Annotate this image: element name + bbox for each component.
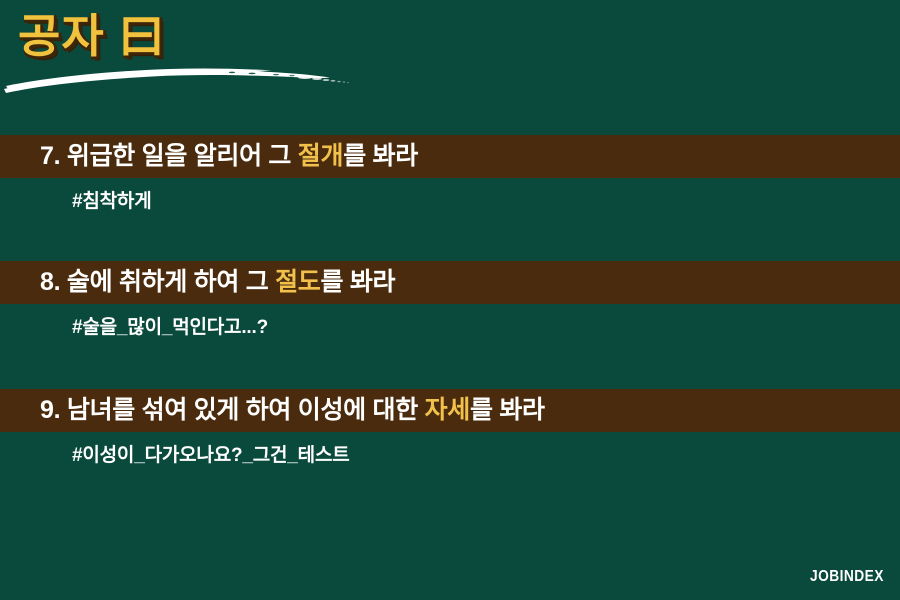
item-band: 9. 남녀를 섞여 있게 하여 이성에 대한 자세를 봐라 — [0, 389, 900, 432]
item-number: 9. — [40, 396, 60, 424]
slide-canvas: 공자 曰 7. 위급한 일을 알리어 그 절개를 봐라 #침착하게 — [0, 0, 900, 600]
item-number: 7. — [40, 142, 60, 170]
list-item: 7. 위급한 일을 알리어 그 절개를 봐라 #침착하게 — [0, 135, 900, 225]
item-text-after: 를 봐라 — [321, 268, 396, 296]
page-title: 공자 曰 — [18, 10, 165, 63]
item-heading: 8. 술에 취하게 하여 그 절도를 봐라 — [0, 270, 395, 295]
item-hashtag: #이성이_다가오나요?_그건_테스트 — [72, 446, 350, 465]
item-number: 8. — [40, 268, 60, 296]
item-hashtag: #술을_많이_먹인다고...? — [72, 318, 268, 337]
item-text-before: 술에 취하게 하여 그 — [60, 268, 275, 296]
item-highlight: 절개 — [298, 142, 343, 170]
item-text-after: 를 봐라 — [343, 142, 418, 170]
item-highlight: 절도 — [275, 268, 320, 296]
item-band: 7. 위급한 일을 알리어 그 절개를 봐라 — [0, 135, 900, 178]
item-text-after: 를 봐라 — [470, 396, 545, 424]
item-text-before: 위급한 일을 알리어 그 — [60, 142, 298, 170]
item-heading: 9. 남녀를 섞여 있게 하여 이성에 대한 자세를 봐라 — [0, 398, 545, 423]
slide-header: 공자 曰 — [0, 0, 900, 120]
item-band: 8. 술에 취하게 하여 그 절도를 봐라 — [0, 261, 900, 304]
list-item: 8. 술에 취하게 하여 그 절도를 봐라 #술을_많이_먹인다고...? — [0, 261, 900, 351]
list-item: 9. 남녀를 섞여 있게 하여 이성에 대한 자세를 봐라 #이성이_다가오나요… — [0, 389, 900, 479]
item-heading: 7. 위급한 일을 알리어 그 절개를 봐라 — [0, 144, 418, 169]
item-highlight: 자세 — [425, 396, 470, 424]
item-text-before: 남녀를 섞여 있게 하여 이성에 대한 — [60, 396, 424, 424]
item-hashtag: #침착하게 — [72, 192, 152, 211]
watermark-logo: JOBINDEX — [810, 568, 884, 586]
chalk-brush-stroke-icon — [0, 62, 360, 102]
